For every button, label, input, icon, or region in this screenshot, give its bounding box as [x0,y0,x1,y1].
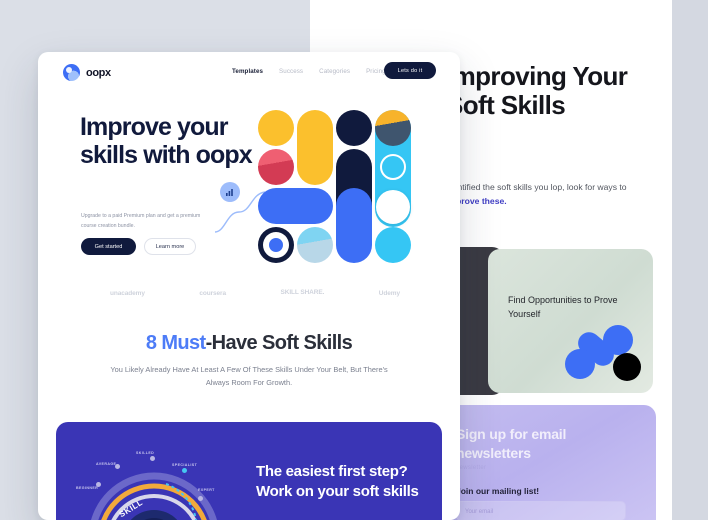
body-line-2: lop, look for ways to [551,182,627,192]
newsletter-email-input[interactable]: Your email [456,501,626,520]
newsletter-subtitle: newsletter [456,465,606,471]
section-paragraph: You Likely Already Have At Least A Few O… [99,364,399,390]
skill-gauge-graphic: BEGINNER AVERAGE SKILLED SPECIALIST EXPE… [74,434,234,520]
nav-links: Templates Success Categories Pricing [232,68,386,75]
collage-ring-white [380,154,406,180]
partner-logo-coursera: coursera [199,290,226,297]
canvas-background: Improving Your Soft Skills identified th… [0,0,708,520]
molecule-circle-top [603,325,633,355]
hero-heading: Improve your skills with oopx [80,114,270,169]
secondary-page-title: Improving Your Soft Skills [446,62,672,120]
opportunities-card-title: Find Opportunities to Prove Yourself [508,294,638,322]
collage-navy-2-core [269,238,283,252]
gauge-label-average: AVERAGE [96,462,116,466]
soft-skills-feature-card[interactable]: BEGINNER AVERAGE SKILLED SPECIALIST EXPE… [56,422,442,520]
collage-blue-pill-2 [336,188,372,263]
molecule-circle-left [565,349,595,379]
gauge-node-4 [182,468,187,473]
nav-cta-button[interactable]: Lets do it [384,62,436,79]
collage-blue-pill [258,188,333,224]
nav-item-templates[interactable]: Templates [232,68,263,75]
get-started-button[interactable]: Get started [81,238,136,255]
gauge-node-1 [96,482,101,487]
brand-logo[interactable]: oopx [63,64,111,81]
gauge-label-expert: EXPERT [198,488,215,492]
opportunities-card[interactable]: Find Opportunities to Prove Yourself [488,249,653,393]
secondary-page-body: identified the soft skills you lop, look… [446,180,646,208]
collage-white-circle [376,190,410,224]
partner-logo-unacademy: unacademy [110,290,145,297]
collage-photo-1 [375,110,411,146]
nav-item-categories[interactable]: Categories [319,68,350,75]
gauge-label-beginner: BEGINNER [76,486,98,490]
section-heading-accent: 8 Must [146,332,206,354]
gauge-label-specialist: SPECIALIST [172,463,197,467]
newsletter-title: Sign up for email newsletters [456,425,636,463]
brand-name: oopx [86,67,111,79]
nav-item-pricing[interactable]: Pricing [366,68,386,75]
nav-item-success[interactable]: Success [279,68,303,75]
partner-logos: unacademy coursera SKILL SHARE. Udemy [110,284,400,302]
body-suffix: these. [479,196,506,206]
hero-button-group: Get started Learn more [81,238,196,255]
partner-logo-skillshare: SKILL SHARE. [280,290,324,297]
molecule-circle-black [613,353,641,381]
collage-photo-2 [258,149,294,185]
gauge-label-skilled: SKILLED [136,451,154,455]
molecule-shape-icon [565,325,641,381]
learn-more-button[interactable]: Learn more [144,238,196,255]
section-heading-rest: -Have Soft Skills [206,332,353,354]
gauge-node-3 [150,456,155,461]
newsletter-join-label: Join our mailing list! [456,486,539,496]
collage-navy-1 [336,110,372,146]
partner-logo-udemy: Udemy [379,290,400,297]
collage-cyan-circle [375,227,411,263]
section-heading: 8 Must-Have Soft Skills [38,332,460,355]
newsletter-card[interactable]: Sign up for email newsletters newsletter… [436,405,656,520]
collage-photo-3 [297,227,333,263]
hero-collage [258,110,413,268]
analytics-badge-icon [220,182,240,202]
gauge-node-2 [115,464,120,469]
logo-mark-icon [63,64,80,81]
background-right-strip [672,0,708,520]
feature-card-title: The easiest first step? Work on your sof… [256,462,431,503]
collage-yellow-1 [258,110,294,146]
collage-yellow-pill [297,110,333,185]
body-line-1: identified the soft skills you [446,182,548,192]
gauge-node-5 [198,496,203,501]
primary-artboard: oopx Templates Success Categories Pricin… [38,52,460,520]
hero-paragraph: Upgrade to a paid Premium plan and get a… [81,212,206,231]
site-navbar: oopx Templates Success Categories Pricin… [38,52,460,94]
